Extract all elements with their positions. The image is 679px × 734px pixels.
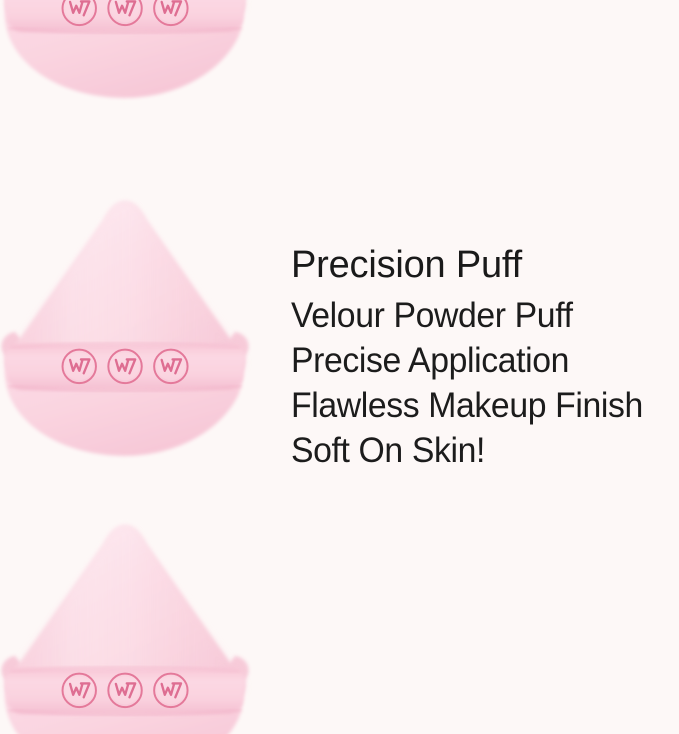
product-title: Precision Puff xyxy=(291,243,679,287)
product-image: Precision Puff Velour Powder Puff Precis… xyxy=(0,0,679,734)
feature-list: Velour Powder Puff Precise Application F… xyxy=(291,293,679,473)
puff-graphic xyxy=(1,524,248,734)
feature-item: Precise Application xyxy=(291,338,667,383)
puff-bottom xyxy=(0,522,260,734)
feature-item: Flawless Makeup Finish xyxy=(291,383,667,428)
puff-graphic xyxy=(1,200,248,455)
feature-item: Velour Powder Puff xyxy=(291,293,667,338)
product-text-block: Precision Puff Velour Powder Puff Precis… xyxy=(291,243,679,473)
puff-graphic xyxy=(1,0,248,98)
puff-top xyxy=(0,0,260,160)
feature-item: Soft On Skin! xyxy=(291,428,667,473)
puff-middle xyxy=(0,198,260,518)
